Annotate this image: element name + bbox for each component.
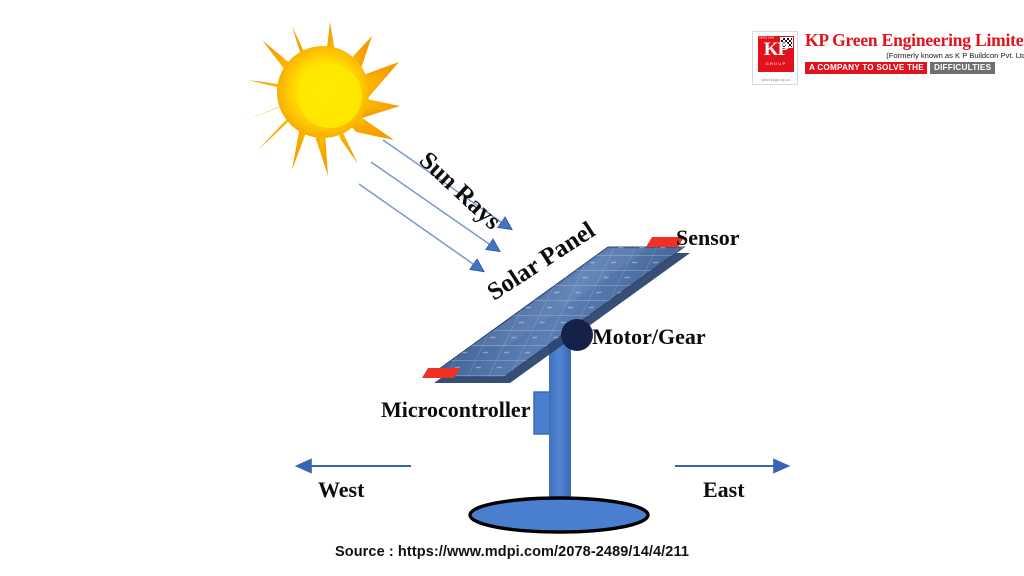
solar-tracker-diagram: Sun Rays Solar Panel Sensor Motor/Gear M… [0, 0, 1024, 576]
diagram-page: SINCE 1994 KP GROUP www.kpgroup.co KP Gr… [0, 0, 1024, 576]
sensor-strip-bottom [422, 368, 460, 378]
west-label: West [318, 477, 365, 502]
sensor-label: Sensor [676, 225, 740, 250]
east-label: East [703, 477, 745, 502]
sun-icon [246, 22, 400, 176]
base-plate [470, 498, 648, 532]
sun-core [298, 64, 362, 128]
sun-rays-label: Sun Rays [414, 147, 506, 236]
support-pole [549, 328, 571, 516]
source-caption: Source : https://www.mdpi.com/2078-2489/… [0, 544, 1024, 560]
microcontroller-label: Microcontroller [381, 397, 531, 422]
motor-gear-icon [561, 319, 593, 351]
motor-gear-label: Motor/Gear [592, 324, 706, 349]
